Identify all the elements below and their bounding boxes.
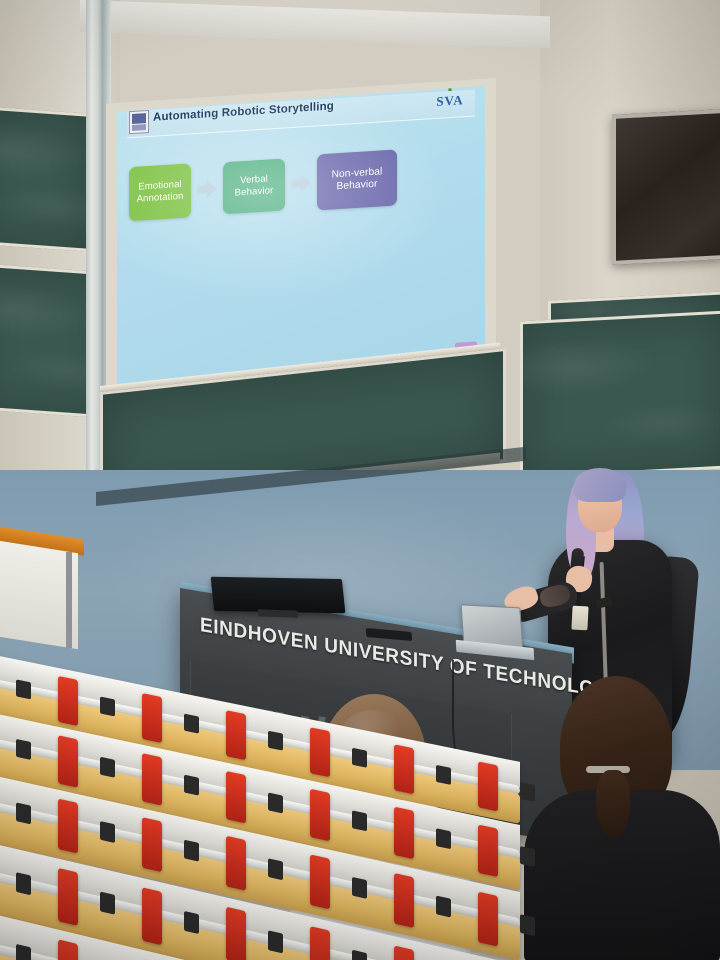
seat-bracket — [142, 887, 162, 945]
seat-clamp — [436, 896, 451, 918]
speaker-hair-top — [574, 468, 626, 502]
sva-logo-text: SVA — [429, 92, 471, 111]
seat-bracket — [58, 799, 78, 854]
seat-bracket — [58, 735, 78, 788]
flow-arrow-1-icon — [197, 181, 217, 198]
chalkboard-right-lower — [520, 311, 720, 480]
seat-bracket — [58, 868, 78, 926]
lecture-hall-photo: Automating Robotic Storytelling SVA Emot… — [0, 0, 720, 960]
seat-clamp — [520, 846, 535, 867]
seat-bracket — [58, 676, 78, 726]
podium-monitor — [211, 577, 346, 614]
seat-clamp — [16, 679, 31, 699]
seat-clamp — [184, 775, 199, 796]
seat-bracket — [394, 744, 414, 794]
flow-box-verbal-behavior: Verbal Behavior — [223, 158, 285, 214]
seat-clamp — [436, 765, 451, 785]
sva-logo-icon: SVA — [429, 86, 471, 110]
seat-clamp — [16, 872, 31, 895]
seat-clamp — [352, 748, 367, 768]
seat-clamp — [100, 696, 115, 716]
seat-clamp — [268, 792, 283, 813]
seat-bracket — [142, 693, 162, 743]
seat-bracket — [394, 807, 414, 860]
seat-clamp — [16, 802, 31, 824]
seat-bracket — [478, 892, 498, 947]
seat-clamp — [100, 821, 115, 843]
audience-2-ponytail — [596, 770, 630, 838]
seat-bracket — [142, 817, 162, 872]
seat-clamp — [184, 840, 199, 862]
chalkboard-left-upper — [0, 106, 94, 252]
seat-bracket — [226, 907, 246, 960]
flow-arrow-2-icon — [291, 175, 311, 192]
seat-bracket — [310, 854, 330, 909]
seat-clamp — [520, 914, 535, 936]
seat-clamp — [268, 930, 283, 953]
seat-bracket — [142, 753, 162, 806]
seat-bracket — [478, 825, 498, 878]
seat-bracket — [226, 771, 246, 824]
flow-box-nonverbal-behavior: Non-verbal Behavior — [317, 149, 397, 210]
slide: Automating Robotic Storytelling SVA Emot… — [117, 86, 485, 386]
seat-clamp — [100, 892, 115, 915]
seat-clamp — [520, 782, 535, 802]
podium-monitor-base — [258, 609, 299, 617]
seat-clamp — [16, 944, 31, 960]
projection-screen: Automating Robotic Storytelling SVA Emot… — [117, 86, 485, 386]
seat-clamp — [184, 911, 199, 934]
seat-clamp — [184, 714, 199, 734]
side-table-leg — [66, 552, 72, 648]
seat-bracket — [310, 926, 330, 960]
seat-bracket — [478, 761, 498, 811]
flow-box-emotional-annotation: Emotional Annotation — [129, 163, 191, 221]
flow-box-1-line2: Annotation — [132, 191, 188, 206]
flow-box-2-line2: Behavior — [226, 185, 282, 200]
seat-bracket — [226, 836, 246, 891]
seat-bracket — [394, 873, 414, 928]
seat-clamp — [16, 739, 31, 760]
wall-monitor — [612, 109, 720, 265]
seat-bracket — [310, 789, 330, 842]
seat-clamp — [436, 828, 451, 849]
seat-bracket — [58, 939, 78, 960]
seat-clamp — [352, 810, 367, 831]
slide-flow-diagram: Emotional Annotation Verbal Behavior Non… — [129, 141, 475, 225]
speaker-badge — [571, 606, 588, 631]
seat-clamp — [352, 877, 367, 899]
seat-clamp — [268, 858, 283, 880]
seat-bracket — [226, 710, 246, 760]
seat-bracket — [310, 727, 330, 777]
tue-logo-icon — [129, 110, 149, 134]
seat-clamp — [268, 731, 283, 751]
seat-clamp — [100, 757, 115, 778]
